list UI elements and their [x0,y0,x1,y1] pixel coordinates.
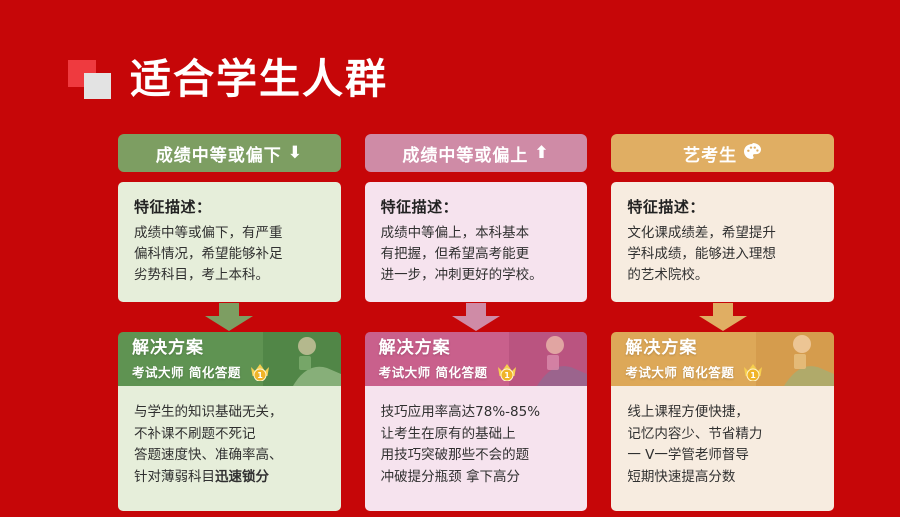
feature-line: 学科成绩，能够进入理想 [627,244,820,265]
connector-below-average [118,302,341,332]
solution-subheading: 考试大师 简化答题 [132,362,241,381]
solution-line: 让考生在原有的基础上 [381,424,574,446]
page-title: 适合学生人群 [130,59,388,100]
solution-line: 针对薄弱科目迅速锁分 [134,467,327,489]
audience-column-above-average: 成绩中等或偏上 ⬆ 特征描述： 成绩中等偏上，本科基本 有把握，但希望高考能更 … [365,134,588,511]
feature-card-art-student: 特征描述： 文化课成绩差，希望提升 学科成绩，能够进入理想 的艺术院校。 [611,182,834,302]
audience-columns: 成绩中等或偏下 ⬇ 特征描述： 成绩中等或偏下，有严重 偏科情况，希望能够补足 … [118,134,834,511]
column-header-art-student[interactable]: 艺考生 [611,134,834,172]
feature-title: 特征描述： [627,196,820,217]
solution-sub-row: 考试大师 简化答题 1 [132,361,329,381]
solution-line: 技巧应用率高达78%-85% [381,402,574,424]
column-header-below-average[interactable]: 成绩中等或偏下 ⬇ [118,134,341,172]
feature-line: 成绩中等偏上，本科基本 [381,223,574,244]
solution-line: 记忆内容少、节省精力 [627,424,820,446]
solution-line: 答题速度快、准确率高、 [134,445,327,467]
column-header-above-average[interactable]: 成绩中等或偏上 ⬆ [365,134,588,172]
solution-line: 线上课程方便快捷， [627,402,820,424]
page-header: 适合学生人群 [68,58,388,100]
arrow-down-icon [203,303,255,331]
solution-body-above-average: 技巧应用率高达78%-85% 让考生在原有的基础上 用技巧突破那些不会的题 冲破… [365,386,588,511]
column-header-label: 艺考生 [683,141,737,166]
column-header-label: 成绩中等或偏下 [156,141,282,166]
feature-line: 文化课成绩差，希望提升 [627,223,820,244]
feature-line: 的艺术院校。 [627,265,820,286]
solution-line: 一 V一学管老师督导 [627,445,820,467]
crown-badge-icon: 1 [741,361,765,381]
feature-line: 进一步，冲刺更好的学校。 [381,265,574,286]
solution-line-emphasis: 迅速锁分 [215,469,269,485]
audience-column-below-average: 成绩中等或偏下 ⬇ 特征描述： 成绩中等或偏下，有严重 偏科情况，希望能够补足 … [118,134,341,511]
feature-body: 成绩中等或偏下，有严重 偏科情况，希望能够补足 劣势科目，考上本科。 [134,223,327,286]
feature-body: 文化课成绩差，希望提升 学科成绩，能够进入理想 的艺术院校。 [627,223,820,286]
two-squares-icon [68,58,114,100]
connector-above-average [365,302,588,332]
connector-art-student [611,302,834,332]
artist-palette-icon [743,143,762,164]
svg-text:1: 1 [750,371,756,380]
solution-heading: 解决方案 [379,338,576,359]
solution-subheading: 考试大师 简化答题 [379,362,488,381]
solution-heading: 解决方案 [625,338,822,359]
crown-badge-icon: 1 [495,361,519,381]
solution-line: 不补课不刷题不死记 [134,424,327,446]
slide-root: 适合学生人群 成绩中等或偏下 ⬇ 特征描述： 成绩中等或偏下，有严重 偏科情况，… [0,0,900,517]
audience-column-art-student: 艺考生 特征描述： 文化课成绩差，希望提升 学科成绩，能够进入理想 [611,134,834,511]
solution-body-art-student: 线上课程方便快捷， 记忆内容少、节省精力 一 V一学管老师督导 短期快速提高分数 [611,386,834,511]
solution-sub-row: 考试大师 简化答题 1 [379,361,576,381]
feature-line: 成绩中等或偏下，有严重 [134,223,327,244]
feature-line: 有把握，但希望高考能更 [381,244,574,265]
svg-text:1: 1 [257,371,263,380]
arrow-down-icon [450,303,502,331]
solution-heading: 解决方案 [132,338,329,359]
solution-sub-row: 考试大师 简化答题 1 [625,361,822,381]
arrow-down-icon [697,303,749,331]
logo-square-gray [84,73,111,99]
solution-line: 与学生的知识基础无关， [134,402,327,424]
feature-card-above-average: 特征描述： 成绩中等偏上，本科基本 有把握，但希望高考能更 进一步，冲刺更好的学… [365,182,588,302]
svg-text:1: 1 [504,371,510,380]
feature-line: 偏科情况，希望能够补足 [134,244,327,265]
solution-line-text: 针对薄弱科目 [134,469,215,485]
solution-line: 短期快速提高分数 [627,467,820,489]
solution-banner-above-average: 解决方案 考试大师 简化答题 1 [365,332,588,386]
arrow-down-icon: ⬇ [288,145,303,162]
feature-body: 成绩中等偏上，本科基本 有把握，但希望高考能更 进一步，冲刺更好的学校。 [381,223,574,286]
solution-banner-below-average: 解决方案 考试大师 简化答题 1 [118,332,341,386]
feature-title: 特征描述： [381,196,574,217]
solution-subheading: 考试大师 简化答题 [625,362,734,381]
solution-body-below-average: 与学生的知识基础无关， 不补课不刷题不死记 答题速度快、准确率高、 针对薄弱科目… [118,386,341,511]
solution-banner-art-student: 解决方案 考试大师 简化答题 1 [611,332,834,386]
arrow-up-icon: ⬆ [534,145,549,162]
feature-card-below-average: 特征描述： 成绩中等或偏下，有严重 偏科情况，希望能够补足 劣势科目，考上本科。 [118,182,341,302]
feature-line: 劣势科目，考上本科。 [134,265,327,286]
solution-line: 用技巧突破那些不会的题 [381,445,574,467]
feature-title: 特征描述： [134,196,327,217]
column-header-label: 成绩中等或偏上 [402,141,528,166]
solution-line: 冲破提分瓶颈 拿下高分 [381,467,574,489]
crown-badge-icon: 1 [248,361,272,381]
